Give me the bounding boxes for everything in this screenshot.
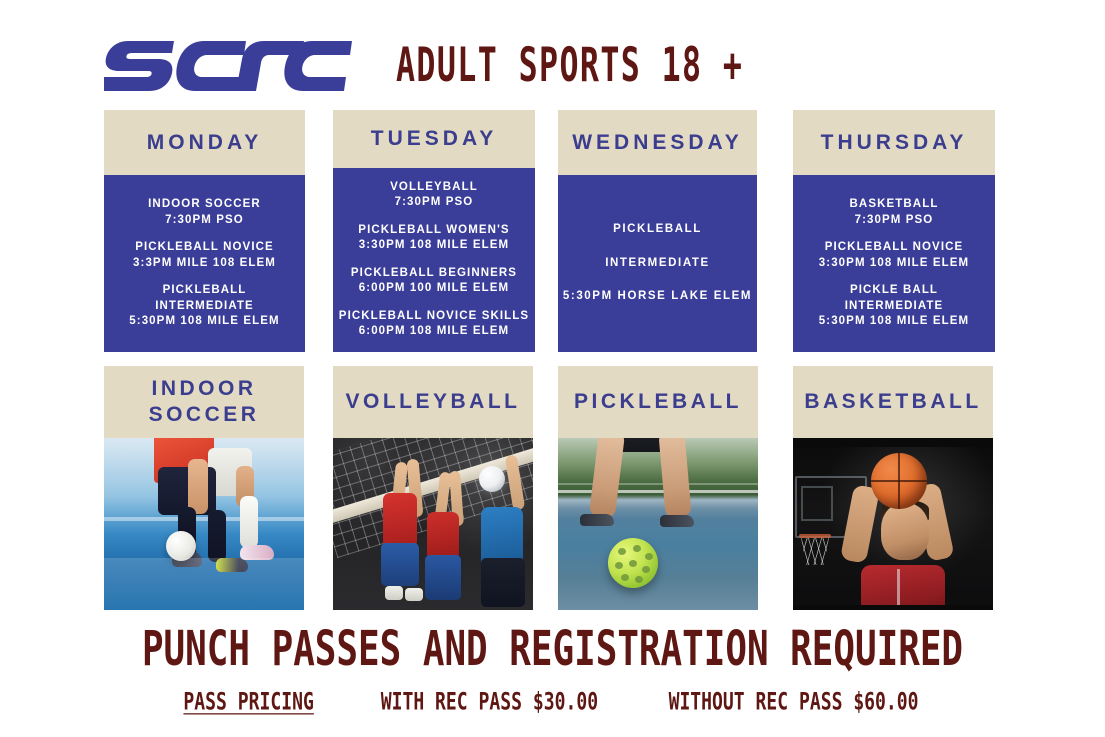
day-heading-tuesday: TUESDAY: [333, 110, 535, 168]
entry-line: 3:30PM 108 MILE ELEM: [358, 238, 509, 254]
scrc-logo: [104, 36, 352, 96]
schedule-entry: INTERMEDIATE: [605, 247, 710, 281]
entry-line: PICKLEBALL WOMEN'S: [358, 223, 509, 239]
day-heading-wednesday: WEDNESDAY: [558, 110, 757, 175]
day-heading-monday: MONDAY: [104, 110, 305, 175]
schedule-entry: PICKLE BALL INTERMEDIATE 5:30PM 108 MILE…: [819, 277, 969, 336]
schedule-entry: PICKLEBALL: [613, 213, 702, 247]
entry-line: 6:00PM 108 MILE ELEM: [339, 324, 529, 340]
schedule-card-tuesday: TUESDAY VOLLEYBALL 7:30PM PSO PICKLEBALL…: [333, 110, 535, 352]
entry-line: PICKLEBALL BEGINNERS: [351, 266, 517, 282]
schedule-entry: BASKETBALL 7:30PM PSO: [850, 191, 939, 234]
schedule-entry: 5:30PM HORSE LAKE ELEM: [563, 280, 752, 314]
entry-line: 5:30PM 108 MILE ELEM: [819, 314, 969, 330]
schedule-body-monday: INDOOR SOCCER 7:30PM PSO PICKLEBALL NOVI…: [104, 175, 305, 352]
entry-line: 3:30PM 108 MILE ELEM: [819, 256, 969, 272]
without-rec-pass-price: WITHOUT REC PASS $60.00: [669, 691, 919, 715]
sport-title-indoor-soccer: INDOOR SOCCER: [104, 366, 304, 438]
entry-line: 3:3PM MILE 108 ELEM: [133, 256, 276, 272]
schedule-entry: PICKLEBALL BEGINNERS 6:00PM 100 MILE ELE…: [351, 260, 517, 303]
entry-line: INTERMEDIATE: [819, 299, 969, 315]
entry-line: 7:30PM PSO: [148, 213, 261, 229]
schedule-card-thursday: THURSDAY BASKETBALL 7:30PM PSO PICKLEBAL…: [793, 110, 995, 352]
with-rec-pass-price: WITH REC PASS $30.00: [381, 691, 598, 715]
sport-card-basketball: BASKETBALL: [793, 366, 993, 610]
entry-line: 6:00PM 100 MILE ELEM: [351, 281, 517, 297]
entry-line: BASKETBALL: [850, 197, 939, 213]
footer-headline: PUNCH PASSES AND REGISTRATION REQUIRED: [17, 624, 1089, 672]
entry-line: PICKLEBALL NOVICE SKILLS: [339, 309, 529, 325]
schedule-entry: PICKLEBALL NOVICE 3:30PM 108 MILE ELEM: [819, 234, 969, 277]
entry-line: INTERMEDIATE: [129, 299, 279, 315]
schedule-entry: PICKLEBALL WOMEN'S 3:30PM 108 MILE ELEM: [358, 217, 509, 260]
poster-root: ADULT SPORTS 18 + MONDAY INDOOR SOCCER 7…: [0, 0, 1105, 737]
sport-card-pickleball: PICKLEBALL: [558, 366, 758, 610]
schedule-body-wednesday: PICKLEBALL INTERMEDIATE 5:30PM HORSE LAK…: [558, 175, 757, 352]
entry-line: PICKLEBALL NOVICE: [819, 240, 969, 256]
pass-pricing-label: PASS PRICING: [183, 691, 313, 715]
indoor-soccer-photo: [104, 438, 304, 610]
entry-line: 7:30PM PSO: [850, 213, 939, 229]
schedule-entry: VOLLEYBALL 7:30PM PSO: [390, 174, 478, 217]
schedule-body-thursday: BASKETBALL 7:30PM PSO PICKLEBALL NOVICE …: [793, 175, 995, 352]
sport-title-volleyball: VOLLEYBALL: [333, 366, 533, 438]
entry-line: 5:30PM HORSE LAKE ELEM: [563, 289, 752, 305]
sport-title-basketball: BASKETBALL: [793, 366, 993, 438]
entry-line: INDOOR SOCCER: [148, 197, 261, 213]
entry-line: INTERMEDIATE: [605, 256, 710, 272]
entry-line: PICKLE BALL: [819, 283, 969, 299]
schedule-entry: PICKLEBALL NOVICE 3:3PM MILE 108 ELEM: [133, 234, 276, 277]
pricing-row: PASS PRICING WITH REC PASS $30.00 WITHOU…: [0, 693, 1105, 712]
sport-title-pickleball: PICKLEBALL: [558, 366, 758, 438]
poster-header: ADULT SPORTS 18 +: [104, 33, 1004, 98]
sport-card-indoor-soccer: INDOOR SOCCER: [104, 366, 304, 610]
schedule-entry: PICKLEBALL NOVICE SKILLS 6:00PM 108 MILE…: [339, 303, 529, 346]
entry-line: VOLLEYBALL: [390, 180, 478, 196]
pickleball-photo: [558, 438, 758, 610]
sport-card-volleyball: VOLLEYBALL: [333, 366, 533, 610]
entry-line: PICKLEBALL: [129, 283, 279, 299]
schedule-entry: PICKLEBALL INTERMEDIATE 5:30PM 108 MILE …: [129, 277, 279, 336]
basketball-photo: [793, 438, 993, 610]
schedule-card-wednesday: WEDNESDAY PICKLEBALL INTERMEDIATE 5:30PM…: [558, 110, 757, 352]
schedule-card-monday: MONDAY INDOOR SOCCER 7:30PM PSO PICKLEBA…: [104, 110, 305, 352]
page-title: ADULT SPORTS 18 +: [396, 42, 743, 89]
day-heading-thursday: THURSDAY: [793, 110, 995, 175]
schedule-entry: INDOOR SOCCER 7:30PM PSO: [148, 191, 261, 234]
schedule-body-tuesday: VOLLEYBALL 7:30PM PSO PICKLEBALL WOMEN'S…: [333, 168, 535, 352]
poster-footer: PUNCH PASSES AND REGISTRATION REQUIRED P…: [0, 630, 1105, 712]
entry-line: 7:30PM PSO: [390, 195, 478, 211]
volleyball-photo: [333, 438, 533, 610]
entry-line: 5:30PM 108 MILE ELEM: [129, 314, 279, 330]
entry-line: PICKLEBALL NOVICE: [133, 240, 276, 256]
entry-line: PICKLEBALL: [613, 222, 702, 238]
